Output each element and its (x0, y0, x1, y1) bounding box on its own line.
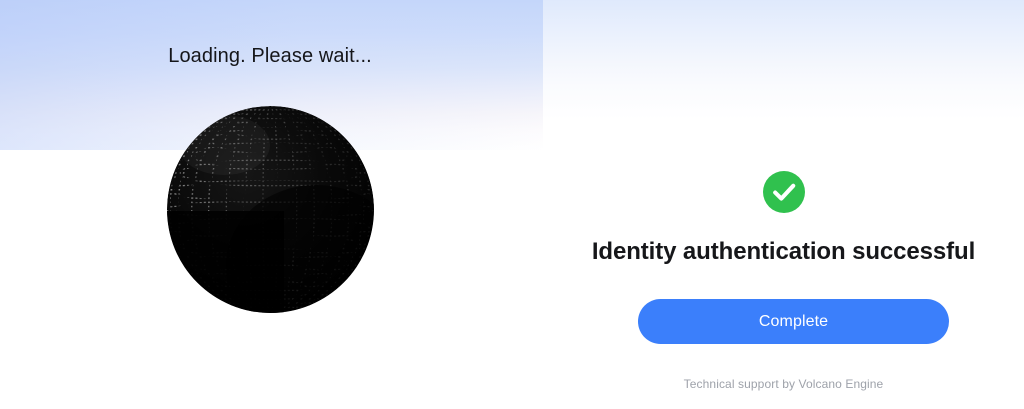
complete-button[interactable]: Complete (638, 299, 949, 344)
success-check-icon (763, 171, 805, 213)
result-panel: Identity authentication successful Compl… (543, 0, 1024, 409)
loading-panel: Loading. Please wait... (0, 0, 543, 409)
result-title: Identity authentication successful (543, 236, 1024, 268)
right-panel-gradient-backdrop (543, 0, 1024, 120)
loading-status-text: Loading. Please wait... (0, 42, 543, 70)
verification-screen: Loading. Please wait... (0, 0, 1024, 409)
technical-support-footer: Technical support by Volcano Engine (543, 376, 1024, 393)
wireframe-globe-icon (166, 105, 375, 314)
